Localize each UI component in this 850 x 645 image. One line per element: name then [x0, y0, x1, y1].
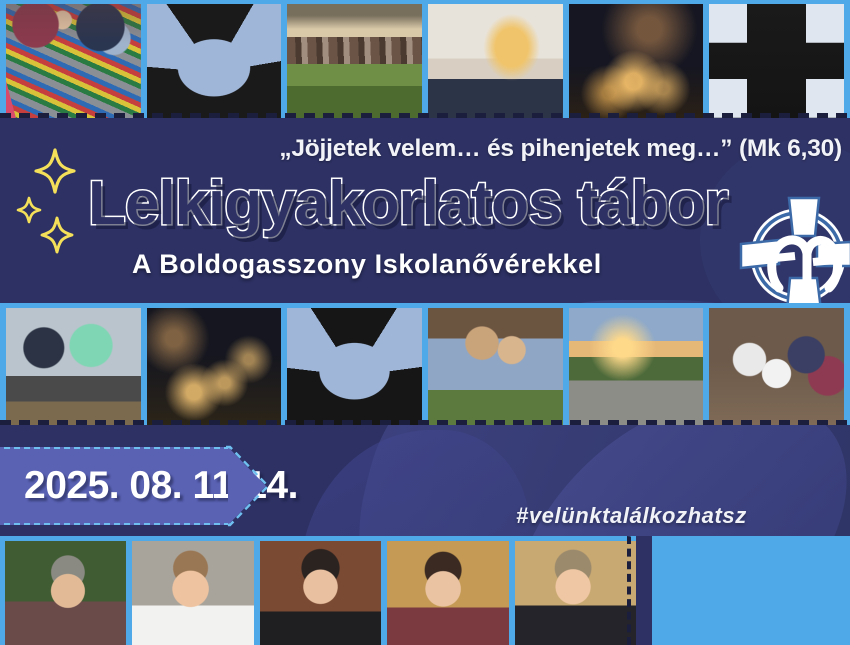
middle-photo-strip — [0, 303, 850, 425]
photo-group-hug — [428, 308, 563, 425]
sparkle-medium — [40, 216, 74, 254]
photo-chapel-prayer — [428, 4, 563, 118]
photo-hands-cross — [709, 4, 844, 118]
portrait-sister-1 — [5, 541, 126, 645]
photo-grilling — [6, 308, 141, 425]
main-title: Lelkigyakorlatos tábor — [88, 173, 728, 235]
photo-sisters-group — [709, 308, 844, 425]
hashtag-text: #velünktalálkozhatsz — [516, 503, 747, 529]
portrait-sister-3 — [260, 541, 381, 645]
middle-strip-bottom-dashed-edge — [0, 420, 850, 425]
top-photo-strip — [0, 0, 850, 118]
school-sisters-emblem — [735, 192, 850, 312]
sparkle-large — [34, 148, 76, 194]
photo-heart-branches — [147, 4, 282, 118]
photo-craft-table — [6, 4, 141, 118]
date-banner: 2025. 08. 11-14. — [0, 447, 230, 525]
scripture-quote: „Jöjjetek velem… és pihenjetek meg…” (Mk… — [279, 135, 842, 163]
photo-shoes-on-grass — [287, 4, 422, 118]
date-banner-arrow-outline — [226, 445, 270, 527]
portrait-sister-5 — [515, 541, 636, 645]
photo-heart-branches-2 — [287, 308, 422, 425]
portrait-sister-2 — [132, 541, 253, 645]
bottom-photo-strip — [0, 536, 850, 645]
headline-area: „Jöjjetek velem… és pihenjetek meg…” (Mk… — [0, 118, 850, 303]
photo-candles-circle — [147, 308, 282, 425]
photo-candlelight-evening — [569, 4, 704, 118]
sparkle-small — [16, 196, 42, 224]
portrait-sister-4 — [387, 541, 508, 645]
poster-root: „Jöjjetek velem… és pihenjetek meg…” (Mk… — [0, 0, 850, 645]
subtitle: A Boldogasszony Iskolanővérekkel — [132, 249, 602, 280]
photo-sunset-guitar — [569, 308, 704, 425]
bottom-strip-rounded-edge — [627, 536, 641, 645]
